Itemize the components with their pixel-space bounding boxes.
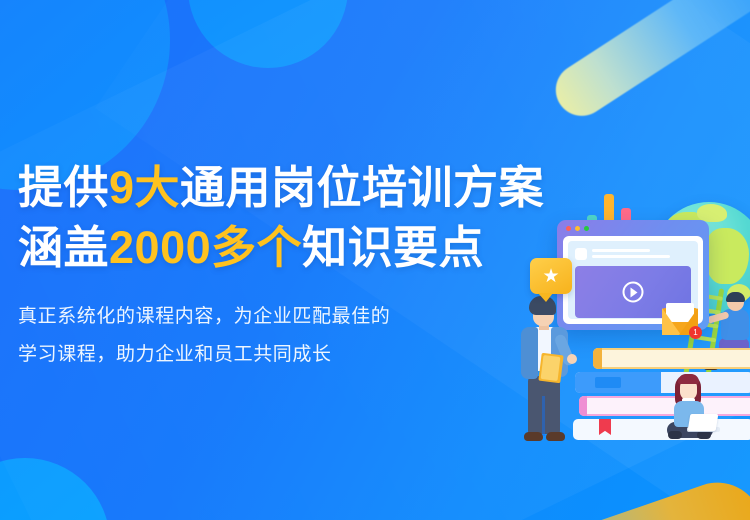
man-shoe-right	[546, 432, 565, 441]
play-button-icon	[623, 282, 644, 303]
headline-line-2: 涵盖2000多个知识要点	[18, 218, 618, 278]
headline-seg-2a: 涵盖	[18, 222, 109, 273]
globe-landmass	[705, 228, 749, 284]
headline-seg-2c: 知识要点	[302, 222, 484, 273]
subtitle-block: 真正系统化的课程内容，为企业匹配最佳的 学习课程，助力企业和员工共同成长	[18, 298, 618, 374]
star-badge: ★	[530, 258, 572, 294]
book-pink-spine	[579, 396, 587, 416]
book-blue-label	[595, 377, 621, 388]
play-triangle-icon	[631, 287, 638, 297]
copy-block: 提供9大通用岗位培训方案 涵盖2000多个知识要点 真正系统化的课程内容，为企业…	[18, 158, 618, 374]
headline-highlight-2000: 2000多个	[109, 222, 302, 273]
headline-seg-1c: 通用岗位培训方案	[180, 162, 544, 213]
climber-hair	[726, 292, 745, 302]
woman-hair-front	[678, 374, 699, 384]
subtitle-line-1: 真正系统化的课程内容，为企业匹配最佳的	[18, 298, 618, 336]
woman-shoe-left	[668, 431, 682, 439]
headline-highlight-9da: 9大	[109, 162, 180, 213]
man-leg-split	[542, 396, 545, 436]
headline-seg-1a: 提供	[18, 162, 109, 213]
seated-woman	[663, 372, 721, 440]
envelope-icon: 1	[662, 308, 698, 335]
star-icon: ★	[530, 258, 572, 294]
promo-banner: 提供9大通用岗位培训方案 涵盖2000多个知识要点 真正系统化的课程内容，为企业…	[0, 0, 750, 520]
notification-badge: 1	[689, 326, 702, 339]
laptop-icon	[688, 414, 719, 431]
man-shoe-left	[524, 432, 543, 441]
headline-line-1: 提供9大通用岗位培训方案	[18, 158, 618, 218]
subtitle-line-2: 学习课程，助力企业和员工共同成长	[18, 336, 618, 374]
woman-shoe-right	[697, 431, 711, 439]
